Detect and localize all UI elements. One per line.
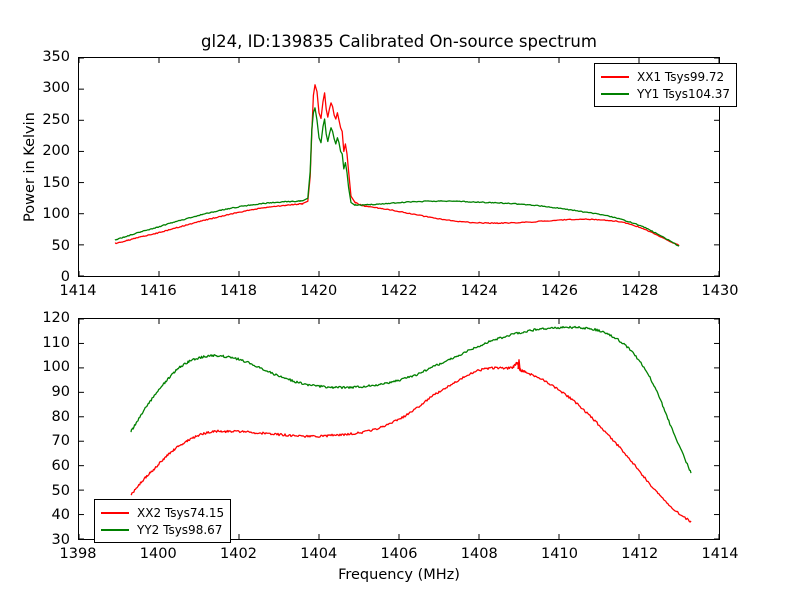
y-tick-label: 100 (12, 206, 70, 222)
x-tick-label: 1410 (541, 546, 578, 562)
y-axis-label: Power in Kelvin (22, 112, 38, 222)
x-tick-label: 1398 (60, 546, 97, 562)
y-tick-label: 200 (12, 143, 70, 159)
y-tick-label: 60 (12, 458, 70, 474)
legend-label-xx1: XX1 Tsys99.72 (637, 70, 724, 84)
x-tick-label: 1420 (300, 283, 337, 299)
x-tick-label: 1426 (541, 283, 578, 299)
data-series-yy2 (131, 326, 691, 473)
legend-swatch-xx1 (601, 76, 629, 78)
y-tick-label: 150 (12, 175, 70, 191)
x-tick-label: 1400 (140, 546, 177, 562)
legend-label-yy2: YY2 Tsys98.67 (137, 523, 222, 537)
x-tick-label: 1430 (702, 283, 739, 299)
y-tick-label: 50 (12, 238, 70, 254)
legend-swatch-xx2 (101, 512, 129, 514)
legend-swatch-yy2 (101, 529, 129, 531)
top-legend: XX1 Tsys99.72 YY1 Tsys104.37 (594, 63, 737, 107)
y-tick-label: 120 (12, 310, 70, 326)
x-tick-label: 1412 (621, 546, 658, 562)
x-tick-label: 1418 (220, 283, 257, 299)
legend-label-yy1: YY1 Tsys104.37 (637, 87, 730, 101)
x-axis-label: Frequency (MHz) (338, 567, 460, 583)
x-tick-label: 1406 (381, 546, 418, 562)
y-tick-label: 90 (12, 384, 70, 400)
x-tick-label: 1402 (220, 546, 257, 562)
y-tick-label: 70 (12, 433, 70, 449)
bottom-legend: XX2 Tsys74.15 YY2 Tsys98.67 (94, 499, 231, 543)
data-series-xx1 (115, 85, 679, 246)
legend-label-xx2: XX2 Tsys74.15 (137, 506, 224, 520)
legend-item: XX2 Tsys74.15 (101, 504, 224, 521)
x-tick-label: 1416 (140, 283, 177, 299)
legend-item: XX1 Tsys99.72 (601, 68, 730, 85)
x-tick-label: 1414 (702, 546, 739, 562)
y-tick-label: 100 (12, 359, 70, 375)
y-tick-label: 300 (12, 80, 70, 96)
y-tick-label: 50 (12, 483, 70, 499)
legend-swatch-yy1 (601, 93, 629, 95)
data-series-yy1 (115, 108, 679, 246)
legend-item: YY1 Tsys104.37 (601, 85, 730, 102)
x-tick-label: 1404 (300, 546, 337, 562)
y-tick-label: 110 (12, 335, 70, 351)
y-tick-label: 40 (12, 507, 70, 523)
x-tick-label: 1428 (621, 283, 658, 299)
matplotlib-figure: gl24, ID:139835 Calibrated On-source spe… (0, 0, 800, 600)
x-tick-label: 1414 (60, 283, 97, 299)
x-tick-label: 1424 (461, 283, 498, 299)
legend-item: YY2 Tsys98.67 (101, 521, 224, 538)
x-tick-label: 1408 (461, 546, 498, 562)
page-title: gl24, ID:139835 Calibrated On-source spe… (78, 32, 720, 51)
y-tick-label: 80 (12, 409, 70, 425)
y-tick-label: 250 (12, 112, 70, 128)
y-tick-label: 350 (12, 49, 70, 65)
x-tick-label: 1422 (381, 283, 418, 299)
